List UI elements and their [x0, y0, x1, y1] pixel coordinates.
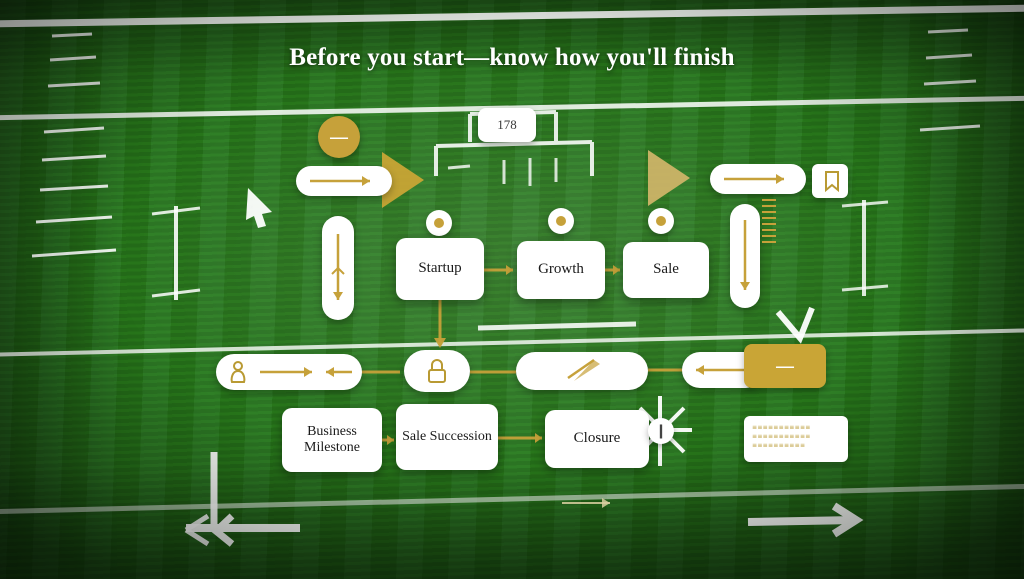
- node-growth-label: Growth: [538, 261, 584, 278]
- minus-icon: —: [744, 344, 826, 388]
- legend-line-1: ≡≡≡≡≡≡≡≡≡≡≡: [752, 424, 844, 431]
- node-sale-succession[interactable]: Sale Succession: [396, 404, 498, 470]
- asterisk-icon: ❙: [648, 418, 674, 444]
- legend-line-3: ≡≡≡≡≡≡≡≡≡≡: [752, 442, 844, 449]
- lock-icon: [404, 350, 470, 392]
- person-arrow-icon: [216, 354, 362, 390]
- screenshot-root: Before you start—know how you'll finish: [0, 0, 1024, 579]
- node-sale-succession-label: Sale Succession: [402, 429, 492, 445]
- rail-node-dots: [0, 0, 1024, 579]
- pencil-icon: [516, 352, 648, 390]
- arrow-right-icon: [556, 492, 626, 514]
- node-startup[interactable]: Startup: [396, 238, 484, 300]
- node-startup-label: Startup: [418, 260, 461, 277]
- node-sale-label: Sale: [653, 261, 679, 278]
- node-closure[interactable]: Closure: [545, 410, 649, 468]
- node-closure-label: Closure: [574, 430, 621, 447]
- node-business-milestone[interactable]: Business Milestone: [282, 408, 382, 472]
- legend-line-2: ≡≡≡≡≡≡≡≡≡≡≡: [752, 433, 844, 440]
- node-business-milestone-label: Business Milestone: [288, 424, 376, 456]
- node-sale[interactable]: Sale: [623, 242, 709, 298]
- node-growth[interactable]: Growth: [517, 241, 605, 299]
